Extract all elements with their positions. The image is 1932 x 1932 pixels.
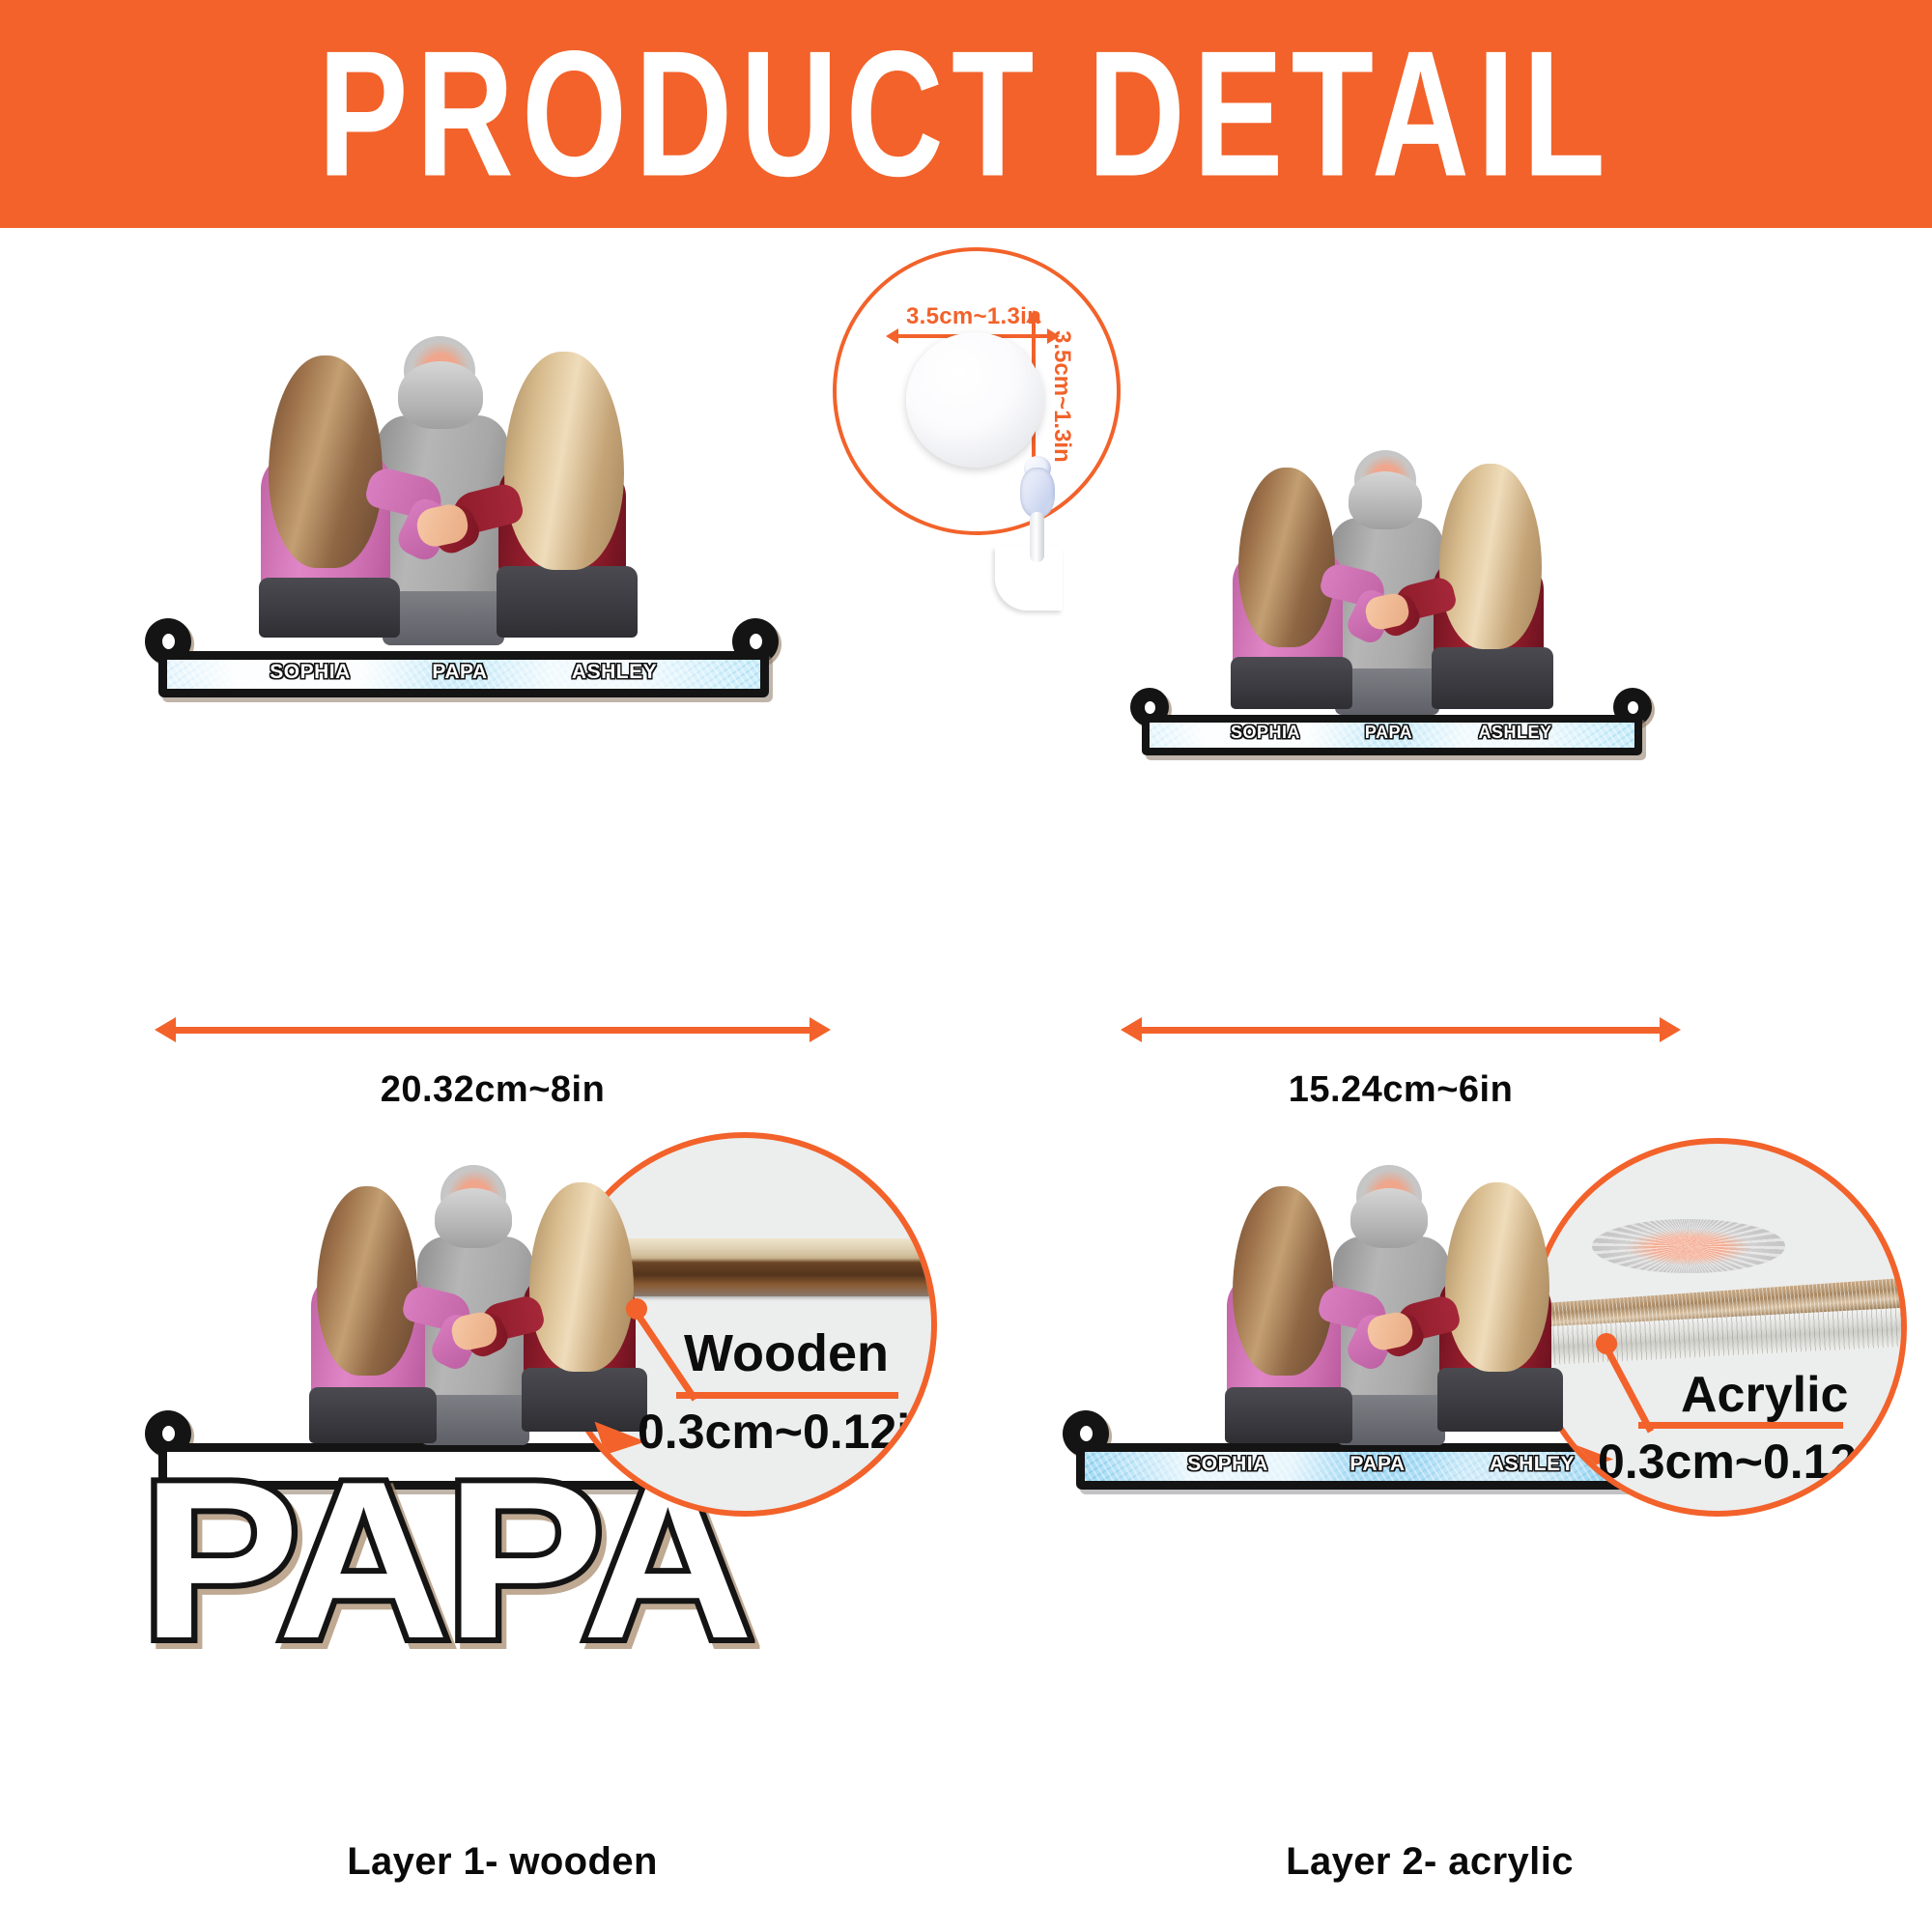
dimension-8in: 20.32cm~8in — [155, 1009, 831, 1116]
hook-height-label: 3.5cm~1.3in — [1043, 319, 1080, 473]
pants-left — [259, 578, 400, 638]
dimension-label-8in: 20.32cm~8in — [155, 1069, 831, 1111]
hair-papa-6in — [1349, 471, 1422, 529]
hair-right-l2 — [1445, 1182, 1549, 1372]
papa-word-6in: PAPA — [1142, 734, 1613, 892]
hook-curve-detail — [995, 547, 1063, 611]
hair-right — [504, 352, 624, 570]
papa-word-layer2: PAPA — [1076, 1464, 1650, 1658]
papa-text-6in: PAPA — [1127, 734, 1627, 892]
wooden-thickness-label: 0.3cm~0.12in — [638, 1404, 937, 1460]
papa-text-layer2: PAPA — [1059, 1464, 1667, 1658]
hair-left-6in — [1238, 468, 1335, 647]
hair-left-l2 — [1233, 1186, 1333, 1376]
hair-left — [269, 355, 383, 568]
wooden-material-label: Wooden — [684, 1323, 889, 1383]
product-preview-6in[interactable]: SOPHIA PAPA ASHLEY PAPA — [1130, 444, 1690, 927]
pants-right-l2 — [1437, 1368, 1563, 1432]
hair-left-l1 — [317, 1186, 417, 1376]
hair-papa-l2 — [1350, 1188, 1428, 1248]
dimension-arrow-6in — [1140, 1027, 1662, 1034]
papa-word-glyphs-layer1: PAPA — [158, 1464, 732, 1658]
papa-word-glyphs-layer2: PAPA — [1076, 1464, 1650, 1658]
pants-papa-l1 — [421, 1395, 529, 1445]
papa-word-glyphs: PAPA — [158, 672, 732, 866]
caption-layer2: Layer 2- acrylic — [1063, 1840, 1797, 1884]
hair-papa-l1 — [435, 1188, 512, 1248]
dimension-6in: 15.24cm~6in — [1121, 1009, 1681, 1116]
wooden-leader-underline — [676, 1392, 898, 1399]
papa-word-layer1: PAPA — [158, 1464, 732, 1658]
page-header: PRODUCT DETAIL — [0, 0, 1932, 228]
magnifier-acrylic: Acrylic 0.3cm~0.12in — [1528, 1138, 1907, 1517]
acrylic-thickness-label: 0.3cm~0.12in — [1598, 1434, 1900, 1490]
suction-cup-hook-icon — [906, 332, 1043, 468]
dimension-label-6in: 15.24cm~6in — [1121, 1069, 1681, 1111]
pants-left-l1 — [309, 1387, 437, 1443]
product-preview-8in[interactable]: SOPHIA PAPA ASHLEY PAPA — [145, 328, 840, 927]
hair-right-6in — [1439, 464, 1542, 649]
suction-cup-badge: 3.5cm~1.3in 3.5cm~1.3in — [833, 247, 1121, 535]
pants-right-6in — [1432, 647, 1553, 709]
papa-text: PAPA — [141, 672, 750, 866]
pants-papa-l2 — [1337, 1395, 1445, 1445]
papa-word-glyphs-6in: PAPA — [1142, 734, 1613, 892]
papa-word-8in: PAPA — [158, 672, 732, 866]
page-title: PRODUCT DETAIL — [319, 24, 1614, 203]
pants-left-l2 — [1225, 1387, 1352, 1443]
acrylic-material-label: Acrylic — [1681, 1366, 1848, 1424]
pants-papa — [383, 591, 504, 645]
papa-head-zoom-detail — [1592, 1219, 1785, 1273]
hook-knob-detail — [1020, 468, 1055, 518]
hair-right-l1 — [529, 1182, 634, 1372]
dimension-arrow-8in — [174, 1027, 811, 1034]
caption-layer1: Layer 1- wooden — [145, 1840, 860, 1884]
hair-papa — [398, 361, 483, 429]
pants-left-6in — [1231, 657, 1352, 709]
pants-right — [497, 566, 638, 638]
